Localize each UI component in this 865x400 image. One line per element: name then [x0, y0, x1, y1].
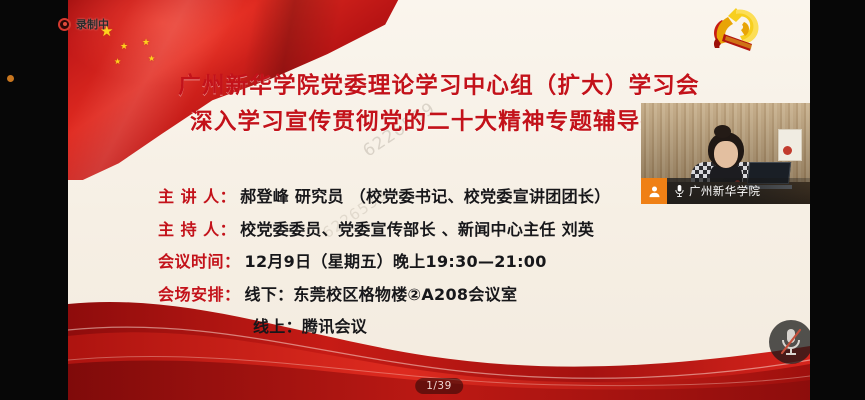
detail-value-speaker: 郝登峰 研究员 （校党委书记、校党委宣讲团团长）	[240, 183, 610, 207]
detail-value-time: 12月9日（星期五）晚上19:30—21:00	[245, 248, 547, 272]
detail-row-host: 主 持 人： 校党委委员、党委宣传部长 、新闻中心主任 刘英	[158, 216, 758, 249]
detail-label-venue: 会场安排：	[158, 281, 241, 305]
slide-title-line-1: 广州新华学院党委理论学习中心组（扩大）学习会	[68, 68, 810, 104]
detail-label-speaker: 主 讲 人：	[158, 183, 236, 207]
participant-video-tile[interactable]: 广州新华学院	[641, 103, 810, 204]
participant-name-bar: 广州新华学院	[641, 178, 810, 204]
slide-details-list: 主 讲 人： 郝登峰 研究员 （校党委书记、校党委宣讲团团长） 主 持 人： 校…	[158, 183, 758, 346]
detail-row-time: 会议时间： 12月9日（星期五）晚上19:30—21:00	[158, 248, 758, 281]
detail-row-venue-online: 线上：腾讯会议	[158, 313, 758, 346]
detail-label-time: 会议时间：	[158, 248, 241, 272]
letterbox-left	[0, 0, 68, 400]
recording-badge: 录制中	[58, 16, 109, 32]
detail-row-venue: 会场安排： 线下：东莞校区格物楼②A208会议室	[158, 281, 758, 314]
recording-indicator-icon	[58, 18, 71, 31]
microphone-muted-icon[interactable]	[769, 320, 813, 364]
detail-value-host: 校党委委员、党委宣传部长 、新闻中心主任 刘英	[240, 216, 594, 240]
page-indicator: 1/39	[415, 378, 463, 394]
detail-label-host: 主 持 人：	[158, 216, 236, 240]
detail-value-venue-online: 线上：腾讯会议	[253, 313, 367, 337]
recording-label: 录制中	[76, 16, 109, 32]
video-conference-screen: ★ ★ ★ ★ ★	[0, 0, 865, 400]
letterbox-right	[810, 0, 865, 400]
detail-value-venue-offline: 线下：东莞校区格物楼②A208会议室	[245, 281, 518, 305]
microphone-icon	[674, 184, 685, 198]
mic-off-glyph	[778, 328, 804, 356]
speaker-face	[714, 141, 738, 168]
user-avatar-icon	[641, 178, 667, 204]
speaker-hair-bun	[714, 125, 731, 138]
wall-poster	[778, 129, 802, 161]
status-dot	[7, 75, 14, 82]
participant-name-label: 广州新华学院	[689, 183, 760, 199]
